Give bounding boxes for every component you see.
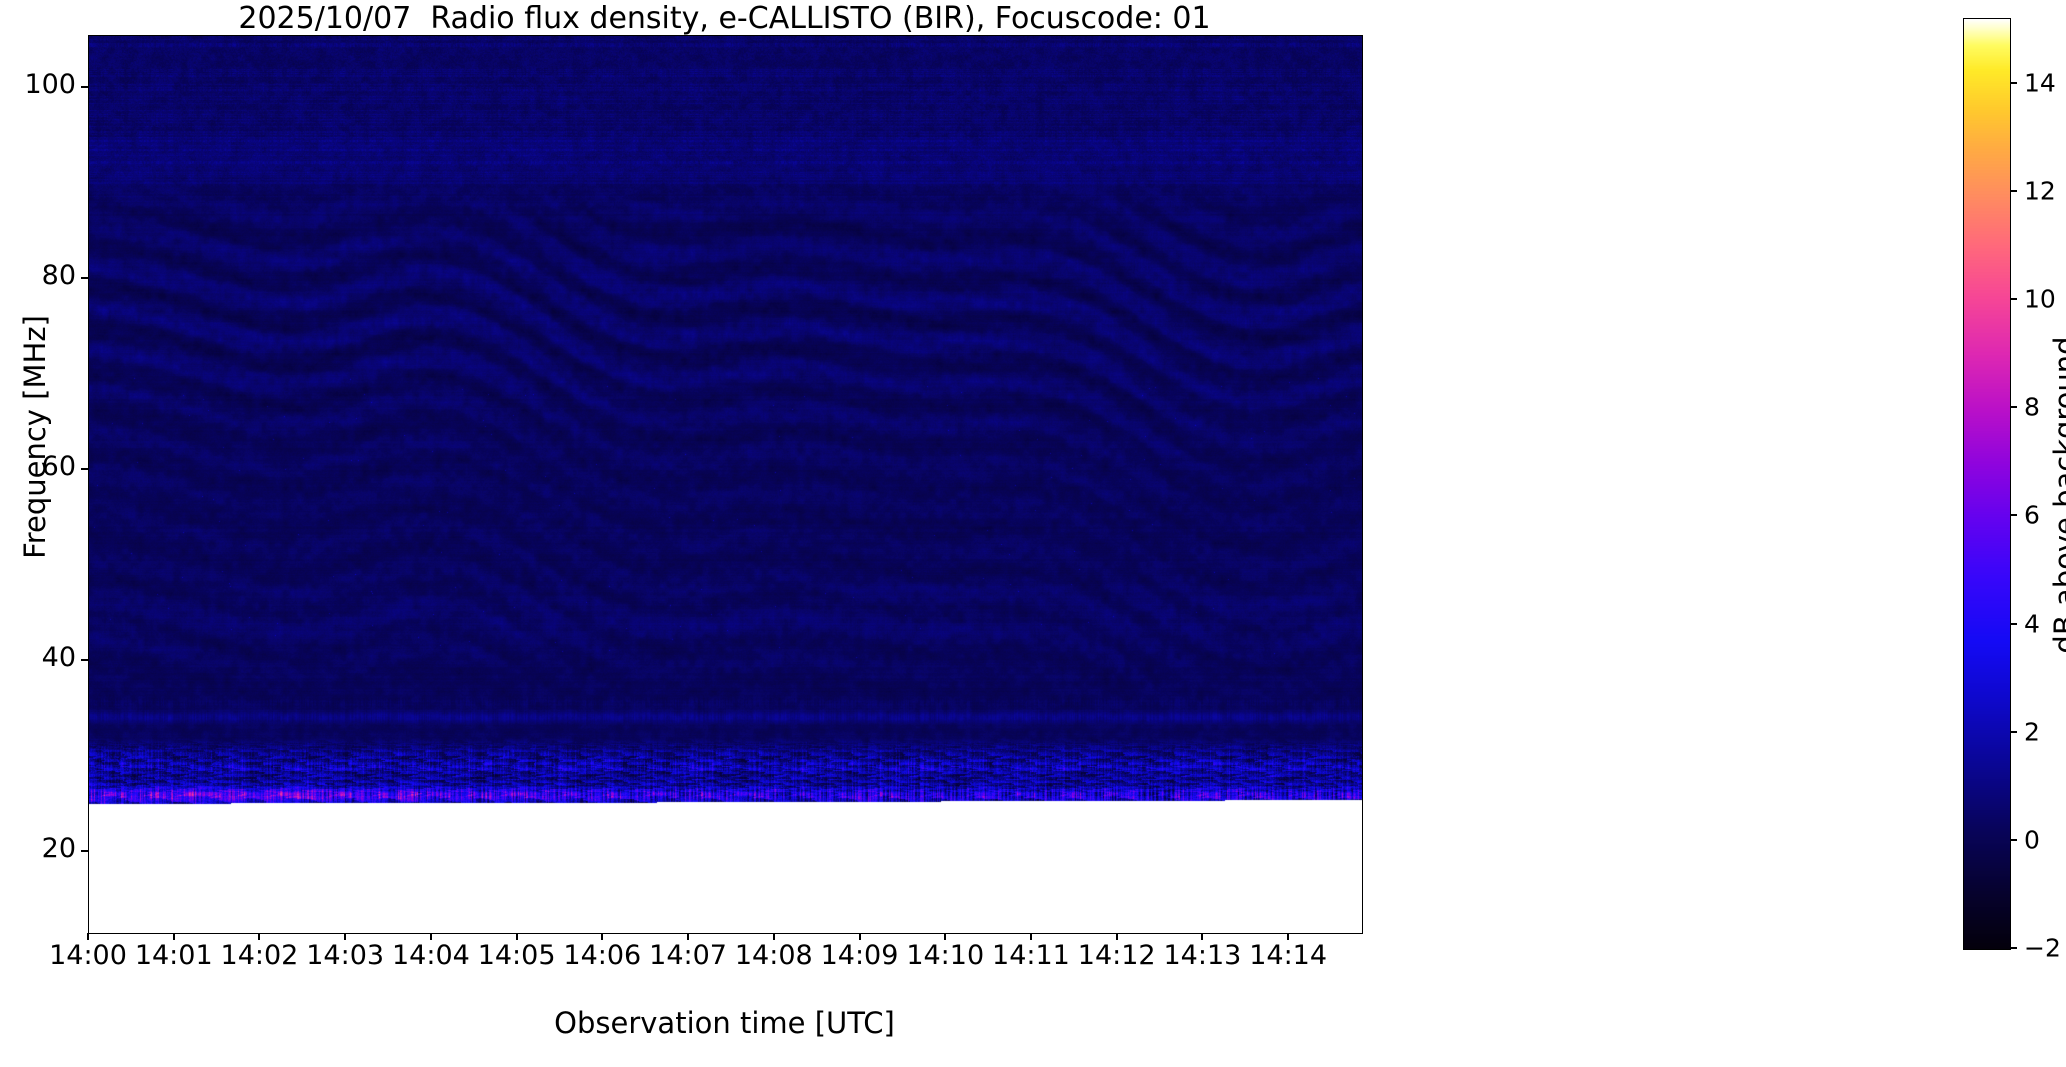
x-axis-tick-label: 14:08 <box>735 940 813 971</box>
colorbar-tick-label: 0 <box>2024 825 2040 854</box>
x-axis-tick-label: 14:07 <box>649 940 727 971</box>
x-axis-tick-mark <box>516 933 518 940</box>
colorbar-tick-mark <box>2010 623 2017 625</box>
colorbar-tick-mark <box>2010 731 2017 733</box>
y-axis-tick-label: 20 <box>0 833 76 864</box>
x-axis-label: Observation time [UTC] <box>88 1006 1361 1040</box>
colorbar-label: dB above background <box>2048 185 2066 805</box>
x-axis-tick-mark <box>87 933 89 940</box>
colorbar-tick-mark <box>2010 190 2017 192</box>
x-axis-tick-label: 14:01 <box>135 940 213 971</box>
colorbar-tick-label: 8 <box>2024 393 2040 422</box>
colorbar[interactable] <box>1963 18 2011 950</box>
colorbar-tick-mark <box>2010 406 2017 408</box>
x-axis-tick-mark <box>859 933 861 940</box>
x-axis-tick-mark <box>687 933 689 940</box>
colorbar-tick-label: 12 <box>2024 177 2056 206</box>
y-axis-tick-label: 100 <box>0 69 76 100</box>
y-axis-tick-label: 80 <box>0 260 76 291</box>
x-axis-tick-label: 14:12 <box>1078 940 1156 971</box>
x-axis-tick-label: 14:04 <box>392 940 470 971</box>
spectrogram-image[interactable] <box>89 36 1362 933</box>
x-axis-tick-mark <box>173 933 175 940</box>
x-axis-tick-mark <box>1030 933 1032 940</box>
y-axis-tick-mark <box>81 850 88 852</box>
y-axis-tick-mark <box>81 659 88 661</box>
figure-canvas: 2025/10/07 Radio flux density, e-CALLIST… <box>0 0 2066 1067</box>
x-axis-tick-mark <box>944 933 946 940</box>
colorbar-tick-label: −2 <box>2024 934 2061 963</box>
colorbar-tick-label: 14 <box>2024 68 2056 97</box>
x-axis-tick-label: 14:09 <box>821 940 899 971</box>
page-title: 2025/10/07 Radio flux density, e-CALLIST… <box>88 2 1361 36</box>
x-axis-tick-mark <box>1116 933 1118 940</box>
x-axis-tick-mark <box>601 933 603 940</box>
colorbar-tick-mark <box>2010 298 2017 300</box>
x-axis-tick-mark <box>773 933 775 940</box>
x-axis-tick-label: 14:00 <box>49 940 127 971</box>
x-axis-tick-mark <box>344 933 346 940</box>
x-axis-tick-mark <box>258 933 260 940</box>
x-axis-tick-mark <box>1201 933 1203 940</box>
colorbar-tick-mark <box>2010 947 2017 949</box>
y-axis-tick-mark <box>81 468 88 470</box>
colorbar-tick-mark <box>2010 514 2017 516</box>
x-axis-tick-label: 14:03 <box>306 940 384 971</box>
y-axis-tick-mark <box>81 86 88 88</box>
colorbar-gradient <box>1964 19 2010 949</box>
colorbar-tick-label: 10 <box>2024 285 2056 314</box>
x-axis-tick-label: 14:05 <box>478 940 556 971</box>
colorbar-tick-mark <box>2010 82 2017 84</box>
x-axis-tick-mark <box>430 933 432 940</box>
y-axis-tick-label: 60 <box>0 451 76 482</box>
x-axis-tick-label: 14:14 <box>1249 940 1327 971</box>
colorbar-tick-label: 2 <box>2024 717 2040 746</box>
spectrogram-axes[interactable] <box>88 35 1363 934</box>
colorbar-tick-label: 6 <box>2024 501 2040 530</box>
x-axis-tick-label: 14:13 <box>1164 940 1242 971</box>
y-axis-tick-mark <box>81 277 88 279</box>
x-axis-tick-label: 14:10 <box>906 940 984 971</box>
x-axis-tick-label: 14:11 <box>992 940 1070 971</box>
x-axis-tick-label: 14:02 <box>221 940 299 971</box>
x-axis-tick-label: 14:06 <box>563 940 641 971</box>
x-axis-tick-mark <box>1287 933 1289 940</box>
y-axis-tick-label: 40 <box>0 642 76 673</box>
colorbar-tick-mark <box>2010 839 2017 841</box>
colorbar-tick-label: 4 <box>2024 609 2040 638</box>
